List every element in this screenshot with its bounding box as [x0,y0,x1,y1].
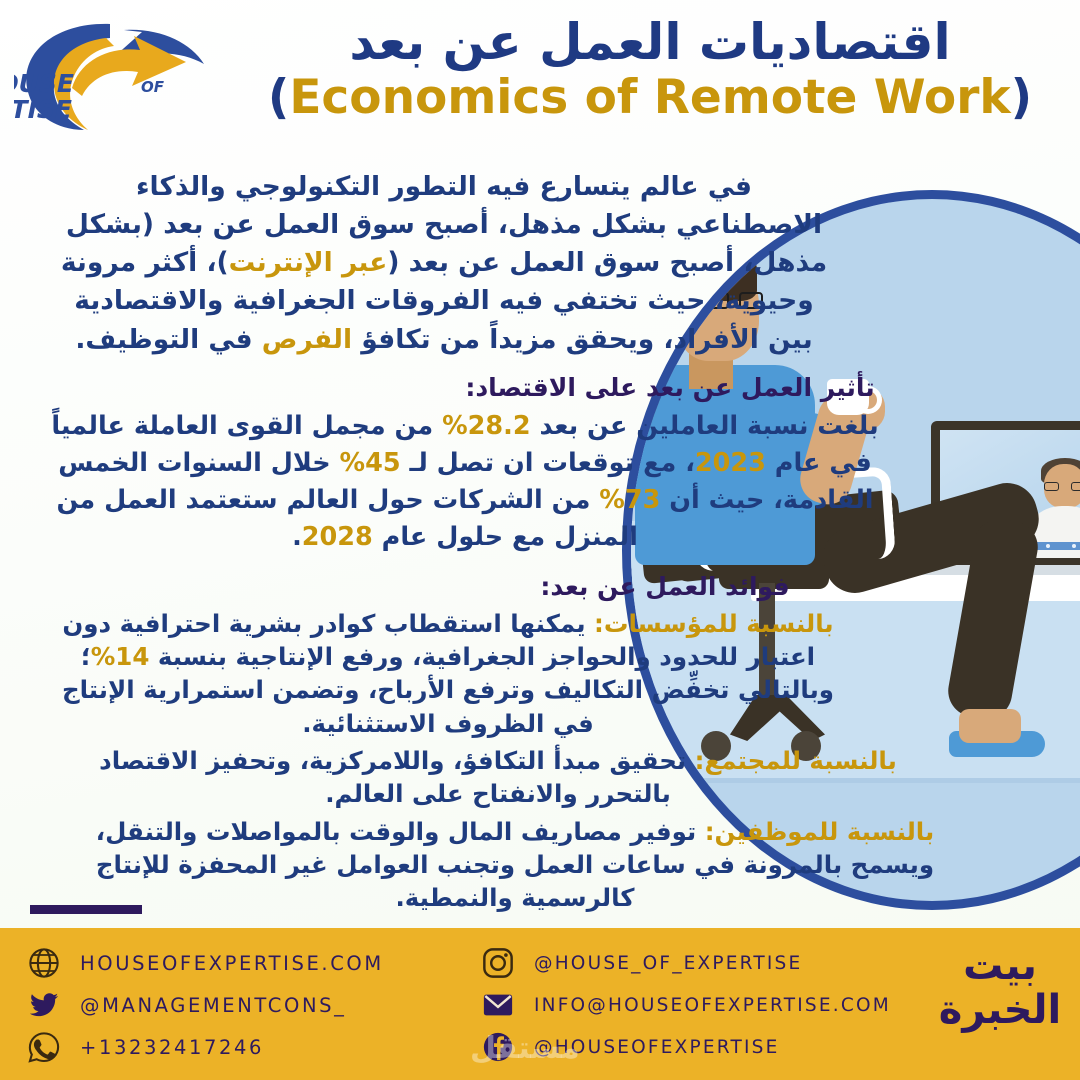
stat-year-2028: 2028 [302,522,373,552]
header: HOUSE OF EXPERTISE اقتصاديات العمل عن بع… [0,0,1080,160]
house-of-expertise-logo: HOUSE OF EXPERTISE [14,14,240,136]
instagram-icon [478,943,518,983]
contact-email-text: INFO@HOUSEOFEXPERTISE.COM [534,995,891,1016]
logo-line1-text: HOUSE [14,69,74,98]
contact-row-whatsapp[interactable]: +13232417246 [24,1027,454,1067]
divider-rule [30,905,142,914]
contact-row-twitter[interactable]: @MANAGEMENTCONS_ [24,985,454,1025]
infographic-poster: HOUSE OF EXPERTISE اقتصاديات العمل عن بع… [0,0,1080,1080]
intro-highlight-internet: عبر الإنترنت [229,247,388,278]
benefit-label-society: بالنسبة للمجتمع: [695,746,897,775]
benefit-item-employees: بالنسبة للموظفين: توفير مصاريف المال وال… [22,815,1058,915]
intro-highlight-opportunity: الفرص [262,324,352,355]
page-title-english: (Economics of Remote Work) [240,72,1060,124]
impact-paragraph: بلغت نسبة العاملين عن بعد 28.2% من مجمل … [22,408,1058,556]
content-body: في عالم يتسارع فيه التطور التكنولوجي وال… [0,160,1080,925]
brand-arabic-logo: بيت الخبرة [938,946,1062,1062]
intro-text-3: في التوظيف. [75,324,261,355]
email-icon [478,985,518,1025]
contact-twitter-text: @MANAGEMENTCONS_ [80,994,346,1017]
section-heading-impact: تأثير العمل عن بعد على الاقتصاد: [22,373,1058,402]
footer: HOUSEOFEXPERTISE.COM @MANAGEMENTCONS_ +1… [0,928,1080,1080]
brand-arabic-line1: بيت [938,946,1062,986]
title-open-paren: ( [268,70,289,125]
title-close-paren: ) [1011,70,1032,125]
impact-text-6: . [292,522,302,552]
globe-icon [24,943,64,983]
brand-arabic-line2: الخبرة [938,990,1062,1030]
stat-projected-share: 45% [340,448,401,478]
benefit-label-organizations: بالنسبة للمؤسسات: [594,609,834,638]
contact-instagram-text: @HOUSE_OF_EXPERTISE [534,953,802,974]
stat-productivity-gain: 14% [91,642,150,671]
impact-text-1: بلغت نسبة العاملين عن بعد [531,411,879,441]
twitter-icon [24,985,64,1025]
stat-year-2023: 2023 [695,448,766,478]
contact-row-email[interactable]: INFO@HOUSEOFEXPERTISE.COM [478,985,948,1025]
contact-phone-text: +13232417246 [80,1036,264,1059]
footer-contacts-right: @HOUSE_OF_EXPERTISE INFO@HOUSEOFEXPERTIS… [478,942,948,1068]
contact-facebook-text: @HOUSEOFEXPERTISE [534,1037,779,1058]
title-english-text: Economics of Remote Work [289,70,1010,125]
title-block: اقتصاديات العمل عن بعد (Economics of Rem… [240,8,1060,158]
whatsapp-icon [24,1027,64,1067]
stat-remote-share: 28.2% [442,411,530,441]
contact-row-website[interactable]: HOUSEOFEXPERTISE.COM [24,943,454,983]
facebook-icon [478,1027,518,1067]
intro-paragraph: في عالم يتسارع فيه التطور التكنولوجي وال… [22,160,1058,359]
section-heading-benefits: فوائد العمل عن بعد: [22,572,1058,601]
stat-companies-share: 73% [599,485,660,515]
page-title-arabic: اقتصاديات العمل عن بعد [240,8,1060,70]
contact-website-text: HOUSEOFEXPERTISE.COM [80,952,384,975]
benefit-item-organizations: بالنسبة للمؤسسات: يمكنها استقطاب كوادر ب… [22,607,1058,740]
impact-text-3: ، مع توقعات ان تصل لـ [401,448,695,478]
benefit-text-society: تحقيق مبدأ التكافؤ، واللامركزية، وتحفيز … [99,746,694,808]
benefit-item-society: بالنسبة للمجتمع: تحقيق مبدأ التكافؤ، وال… [22,744,1058,811]
contact-row-instagram[interactable]: @HOUSE_OF_EXPERTISE [478,943,948,983]
benefit-label-employees: بالنسبة للموظفين: [705,817,934,846]
footer-contacts-left: HOUSEOFEXPERTISE.COM @MANAGEMENTCONS_ +1… [24,942,454,1068]
logo-of-text: OF [141,78,165,96]
logo-line2-text: EXPERTISE [14,95,72,124]
contact-row-facebook[interactable]: @HOUSEOFEXPERTISE [478,1027,948,1067]
